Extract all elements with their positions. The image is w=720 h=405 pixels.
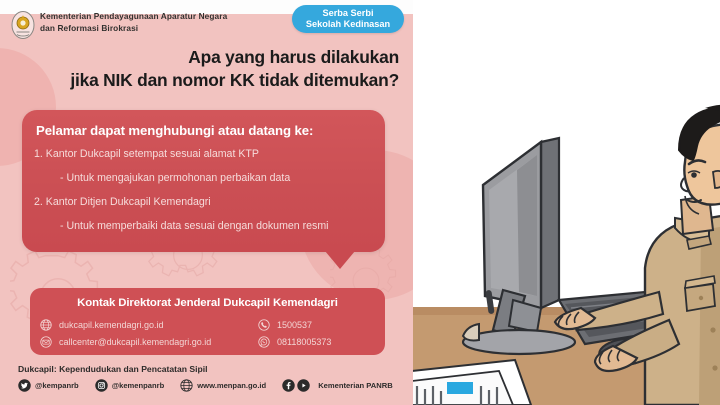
answer-line-1: 1. Kantor Dukcapil setempat sesuai alama… [34,148,259,160]
garuda-emblem-icon [10,10,36,40]
contact-item-email[interactable]: callcenter@dukcapil.kemendagri.go.id [40,336,211,348]
ministry-line-2: dan Reformasi Birokrasi [40,23,255,35]
speech-bubble-tail [325,251,355,269]
social-twitter-label: @kempanrb [35,381,79,390]
documents-on-desk [413,360,531,405]
left-content-panel: Kementerian Pendayagunaan Aparatur Negar… [0,0,413,405]
office-worker-illustration [413,0,720,405]
social-instagram[interactable]: @kemenpanrb [95,379,165,392]
answer-box-title: Pelamar dapat menghubungi atau datang ke… [36,123,376,138]
footer: Dukcapil: Kependudukan dan Pencatatan Si… [0,360,413,405]
header: Kementerian Pendayagunaan Aparatur Negar… [0,0,413,46]
answer-line-3: 2. Kantor Ditjen Dukcapil Kemendagri [34,196,211,208]
ministry-name: Kementerian Pendayagunaan Aparatur Negar… [40,11,255,34]
globe-icon [40,319,52,331]
illustration-panel [413,0,720,405]
facebook-icon [282,379,295,392]
social-website-label: www.menpan.go.id [197,381,266,390]
social-facebook-youtube[interactable]: Kementerian PANRB [282,379,393,392]
social-website[interactable]: www.menpan.go.id [180,379,266,392]
answer-box: Pelamar dapat menghubungi atau datang ke… [22,110,385,252]
answer-line-2: - Untuk mengajukan permohonan perbaikan … [60,172,290,184]
contact-value-whatsapp: 08118005373 [277,337,331,347]
contact-item-website[interactable]: dukcapil.kemendagri.go.id [40,319,164,331]
page-title: Apa yang harus dilakukan jika NIK dan no… [4,46,399,92]
globe-icon [180,379,193,392]
footer-title: Dukcapil: Kependudukan dan Pencatatan Si… [18,364,208,374]
headline-line-2: jika NIK dan nomor KK tidak ditemukan? [4,69,399,92]
social-facebook-youtube-label: Kementerian PANRB [318,381,393,390]
contact-box-title: Kontak Direktorat Jenderal Dukcapil Keme… [30,297,385,309]
contact-box: Kontak Direktorat Jenderal Dukcapil Keme… [30,288,385,355]
phone-icon [258,319,270,331]
badge-line-1: Serba Serbi [322,8,373,20]
contact-item-whatsapp[interactable]: 08118005373 [258,336,331,348]
social-twitter[interactable]: @kempanrb [18,379,79,392]
poster: Kementerian Pendayagunaan Aparatur Negar… [0,0,720,405]
headline-line-1: Apa yang harus dilakukan [188,47,399,67]
social-instagram-label: @kemenpanrb [112,381,165,390]
contact-value-website: dukcapil.kemendagri.go.id [59,320,164,330]
footer-social-row: @kempanrb @kemenpanrb [18,379,409,392]
ministry-line-1: Kementerian Pendayagunaan Aparatur Negar… [40,11,255,23]
contact-item-phone[interactable]: 1500537 [258,319,312,331]
youtube-icon [297,379,310,392]
contact-value-phone: 1500537 [277,320,312,330]
contact-value-email: callcenter@dukcapil.kemendagri.go.id [59,337,211,347]
series-badge[interactable]: Serba Serbi Sekolah Kedinasan [292,5,404,33]
instagram-icon [95,379,108,392]
answer-line-4: - Untuk memperbaiki data sesuai dengan d… [60,220,329,232]
badge-line-2: Sekolah Kedinasan [306,19,390,31]
envelope-icon [40,336,52,348]
male-office-worker [555,105,720,405]
twitter-icon [18,379,31,392]
whatsapp-icon [258,336,270,348]
